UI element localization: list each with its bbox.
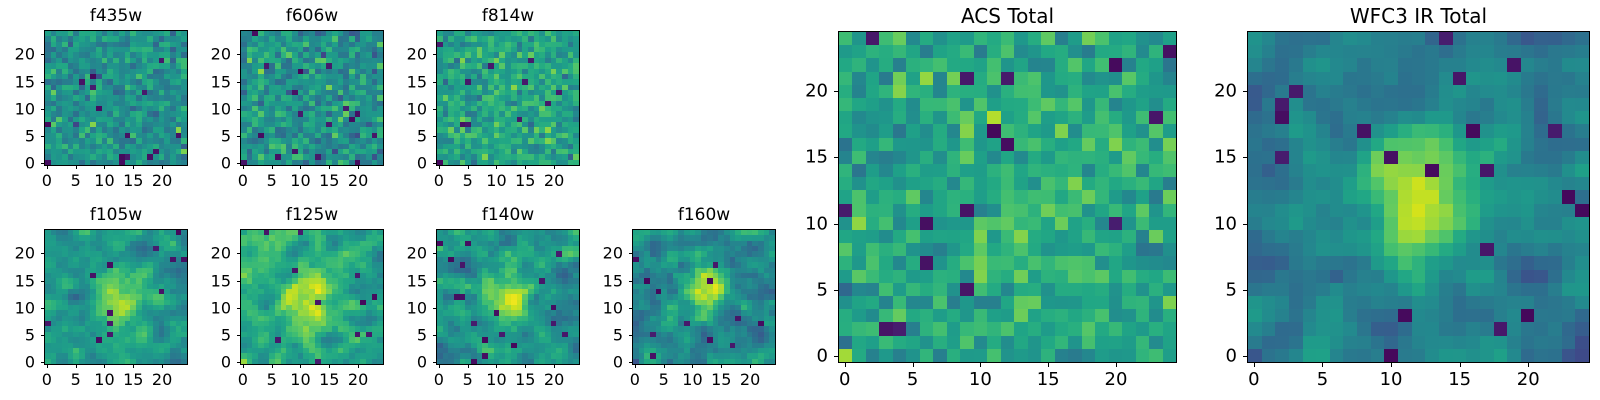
y-tick-label-wfc3-ir-total-4: 20: [1197, 80, 1237, 101]
x-tick-wfc3-ir-total-2: [1391, 363, 1392, 367]
x-tick-label-wfc3-ir-total-0: 0: [1248, 369, 1259, 390]
x-tick-label-wfc3-ir-total-3: 15: [1448, 369, 1471, 390]
panel-title-wfc3-ir-total: WFC3 IR Total: [1247, 4, 1590, 28]
heatmap-grid-wfc3-ir-total: [1248, 32, 1589, 362]
y-tick-label-wfc3-ir-total-0: 0: [1197, 346, 1237, 367]
x-tick-wfc3-ir-total-4: [1528, 363, 1529, 367]
x-tick-label-wfc3-ir-total-1: 5: [1317, 369, 1328, 390]
y-tick-wfc3-ir-total-2: [1243, 224, 1247, 225]
x-tick-label-wfc3-ir-total-2: 10: [1380, 369, 1403, 390]
y-tick-wfc3-ir-total-3: [1243, 157, 1247, 158]
y-tick-label-wfc3-ir-total-3: 15: [1197, 147, 1237, 168]
x-tick-label-wfc3-ir-total-4: 20: [1517, 369, 1540, 390]
y-tick-wfc3-ir-total-4: [1243, 91, 1247, 92]
x-tick-wfc3-ir-total-3: [1460, 363, 1461, 367]
x-tick-wfc3-ir-total-0: [1254, 363, 1255, 367]
y-tick-label-wfc3-ir-total-1: 5: [1197, 279, 1237, 300]
heatmap-axes-wfc3-ir-total: [1247, 31, 1590, 363]
y-tick-label-wfc3-ir-total-2: 10: [1197, 213, 1237, 234]
y-tick-wfc3-ir-total-1: [1243, 290, 1247, 291]
x-tick-wfc3-ir-total-1: [1322, 363, 1323, 367]
y-tick-wfc3-ir-total-0: [1243, 356, 1247, 357]
figure-canvas: f435w0510152005101520f606w05101520051015…: [0, 0, 1600, 400]
panel-wfc3-ir-total: WFC3 IR Total0510152005101520: [0, 0, 1600, 400]
